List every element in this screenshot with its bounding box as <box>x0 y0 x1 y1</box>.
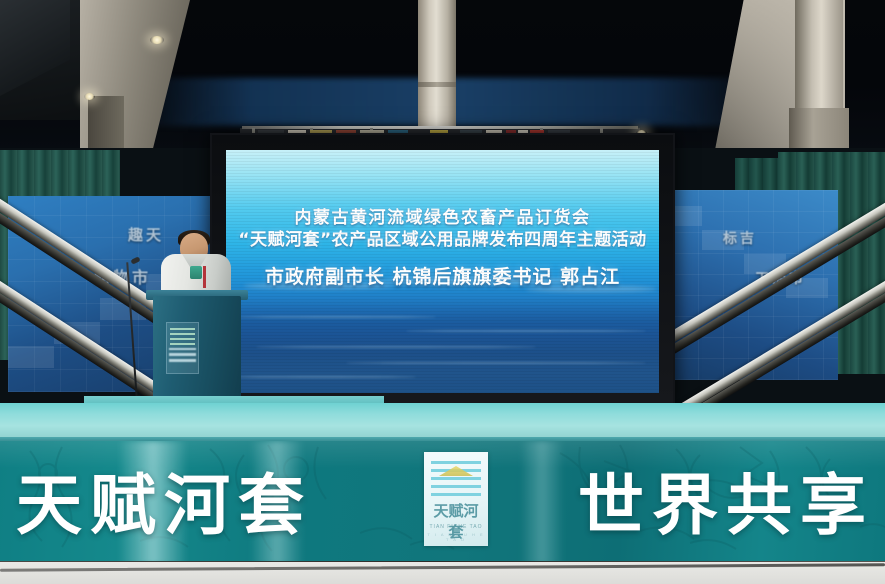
structural-column-right-base <box>789 108 849 150</box>
led-screen-frame: 内蒙古黄河流域绿色农畜产品订货会 “天赋河套”农产品区域公用品牌发布四周年主题活… <box>210 133 675 409</box>
led-screen[interactable]: 内蒙古黄河流域绿色农畜产品订货会 “天赋河套”农产品区域公用品牌发布四周年主题活… <box>226 150 659 393</box>
banner-highlight <box>520 441 564 565</box>
wall-sign-right-upper: 标吉 <box>723 228 757 248</box>
podium-logo <box>166 322 199 374</box>
screen-wave <box>236 316 436 318</box>
screen-wave <box>256 346 536 348</box>
screen-title-line2: “天赋河套”农产品区域公用品牌发布四周年主题活动 <box>226 225 659 250</box>
brand-logo-mark <box>431 460 481 496</box>
mezzanine-railing <box>242 126 638 129</box>
screenshot-root: 趣天 购物市 标吉 工治市 内蒙古黄河流域绿色农畜产品订货会 “天赋河套”农产品… <box>0 0 885 584</box>
wall-sign-left-upper: 趣天 <box>128 224 164 245</box>
speaker-badge-ribbon <box>203 266 206 288</box>
brand-logo-pinyin-1: TIAN FU HE TAO <box>426 524 486 530</box>
brand-logo-pinyin-2: T I A N F U H E T A O <box>426 532 486 542</box>
stair-step <box>8 346 54 368</box>
banner-text-right: 世界共享 <box>578 452 874 548</box>
brand-logo: 天赋河套 TIAN FU HE TAO T I A N F U H E T A … <box>424 452 488 546</box>
speaker-lanyard <box>190 266 202 279</box>
banner-text-left: 天赋河套 <box>16 452 312 548</box>
stage-deck <box>0 403 885 441</box>
brand-logo-hanzi: 天赋河套 <box>428 500 484 524</box>
ceiling-beam-left <box>88 96 124 150</box>
podium-logo-text <box>169 348 196 362</box>
screen-wave <box>406 330 646 332</box>
screen-speaker-line: 市政府副市长 杭锦后旗旗委书记 郭占江 <box>226 262 659 289</box>
structural-column-center <box>418 0 456 128</box>
podium-logo-mark <box>170 327 195 345</box>
ceiling-spotlight <box>150 36 164 44</box>
screen-wave <box>226 376 416 378</box>
screen-wave <box>346 362 646 364</box>
screen-water <box>226 297 659 393</box>
ceiling-lamp <box>84 93 95 100</box>
